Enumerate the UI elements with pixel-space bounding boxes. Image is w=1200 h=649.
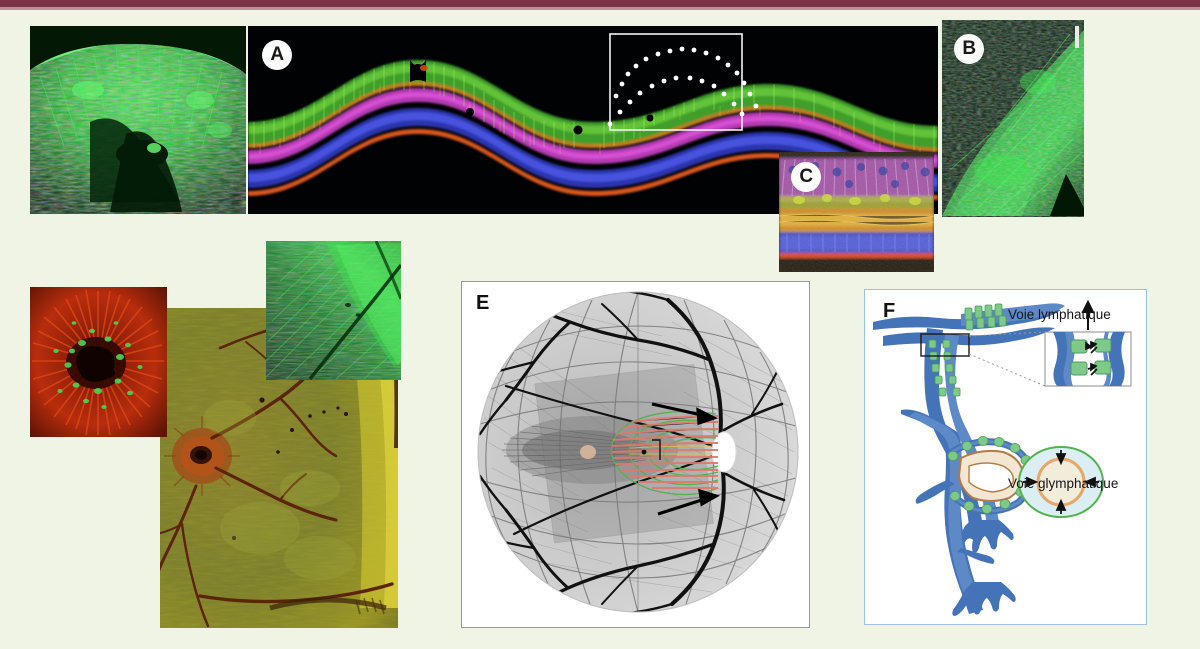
panel-label-c: C <box>791 162 821 192</box>
label-voie-glymphatique: Voie glymphatique <box>1008 476 1118 491</box>
label-voie-lymphatique: Voie lymphatique <box>1008 307 1111 322</box>
top-rule-light <box>0 7 1200 10</box>
panel-b-green-micrograph: B <box>942 20 1084 217</box>
panel-label-a: A <box>262 40 292 70</box>
panel-f-lymphatic-glymphatic-schematic: F Voie lymphatique Voie glymphatique <box>864 289 1147 625</box>
panel-d-inset-green-micrograph <box>266 241 401 380</box>
panel-e-fundus-schematic: E <box>461 281 810 628</box>
panel-label-b: B <box>954 34 984 64</box>
top-rule-dark <box>0 0 1200 7</box>
panel-a-left-green-micrograph <box>30 26 246 214</box>
panel-c-retina-layers-zoom: C <box>779 152 934 272</box>
panel-label-f: F <box>883 300 895 323</box>
panel-d-inset-red-optic-disc <box>30 287 167 437</box>
panel-label-e: E <box>476 292 489 315</box>
